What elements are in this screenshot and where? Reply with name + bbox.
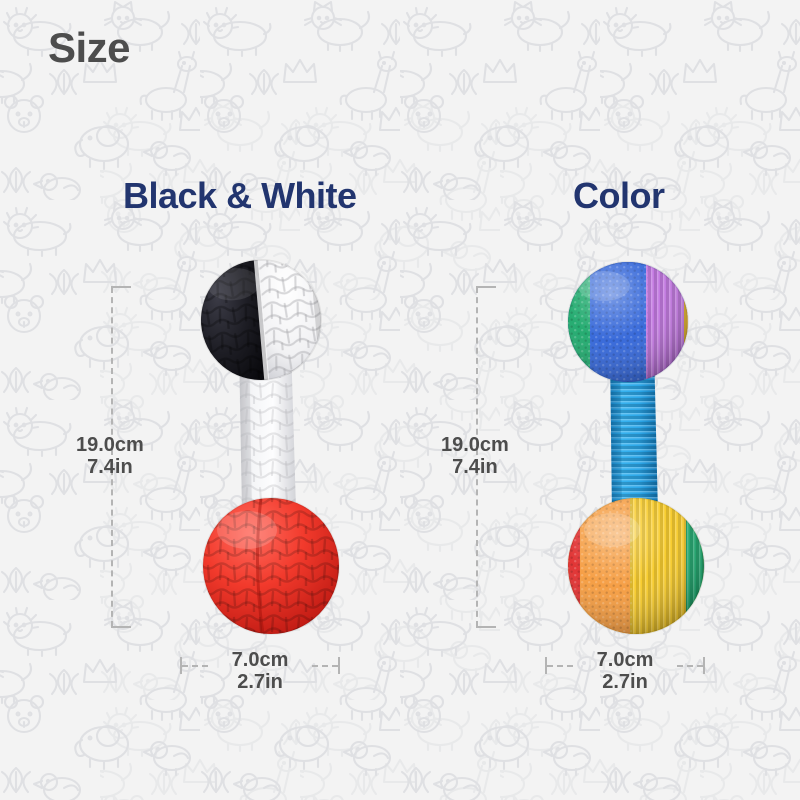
ball-bottom-red (203, 498, 339, 634)
height-dimension-label-black-and-white: 19.0cm 7.4in (76, 435, 144, 478)
height-cm-color: 19.0cm (441, 435, 509, 457)
product-image-black-and-white (163, 248, 393, 648)
height-in-black-and-white: 7.4in (76, 457, 144, 479)
column-title-black-and-white: Black & White (123, 175, 357, 217)
width-dimension-label-color: 7.0cm 2.7in (545, 650, 705, 693)
height-cm-black-and-white: 19.0cm (76, 435, 144, 457)
width-cm-black-and-white: 7.0cm (180, 650, 340, 672)
product-image-color (528, 248, 758, 648)
ball-top-black-white (188, 248, 384, 394)
ball-bottom-color (566, 496, 716, 638)
height-in-color: 7.4in (441, 457, 509, 479)
column-title-color: Color (573, 175, 665, 217)
width-dimension-color: 7.0cm 2.7in (545, 650, 705, 702)
width-dimension-label-black-and-white: 7.0cm 2.7in (180, 650, 340, 693)
page-title: Size (48, 24, 130, 72)
width-in-color: 2.7in (545, 672, 705, 694)
width-dimension-black-and-white: 7.0cm 2.7in (180, 650, 340, 702)
width-in-black-and-white: 2.7in (180, 672, 340, 694)
width-cm-color: 7.0cm (545, 650, 705, 672)
height-dimension-label-color: 19.0cm 7.4in (441, 435, 509, 478)
ball-top-color (562, 258, 706, 390)
